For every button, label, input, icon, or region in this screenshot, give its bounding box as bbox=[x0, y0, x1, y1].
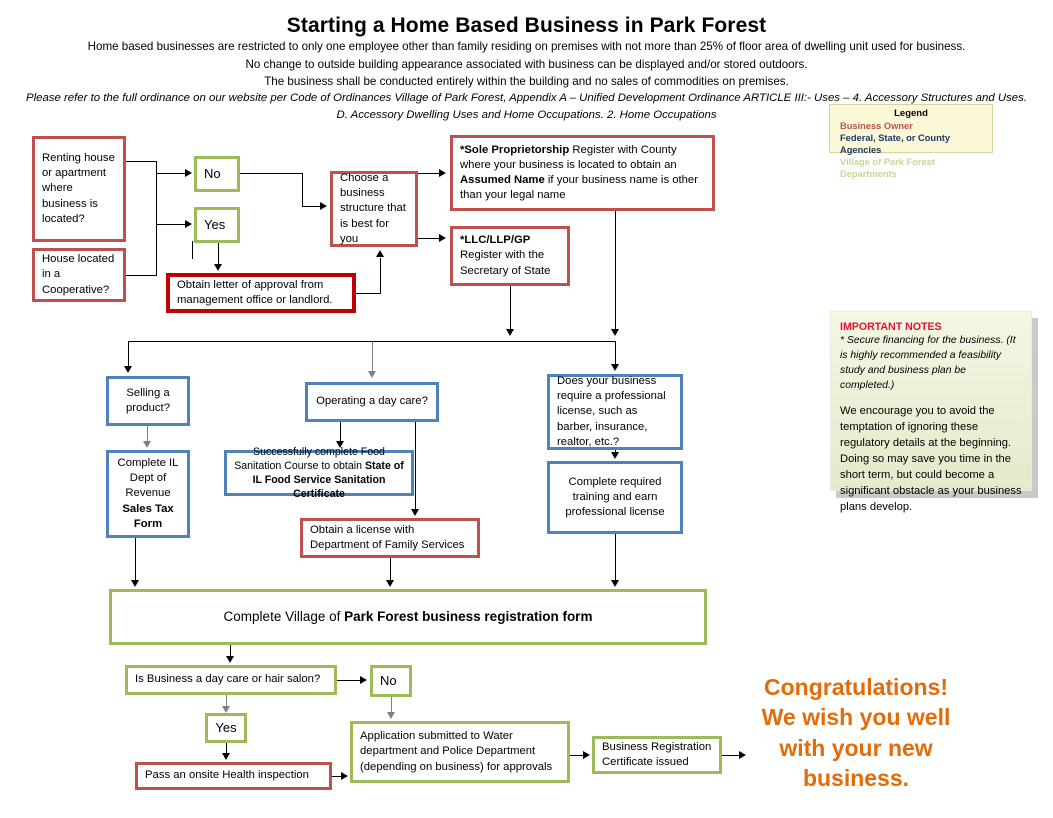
notes-italic-text: * Secure financing for the business. (It… bbox=[840, 334, 1022, 393]
notes-body-text: We encourage you to avoid the temptation… bbox=[840, 404, 1022, 515]
arrow-right bbox=[439, 234, 446, 242]
connector-stub bbox=[192, 241, 193, 259]
arrow-right bbox=[320, 202, 327, 210]
il-dept-text: Complete IL Dept of Revenue bbox=[118, 457, 179, 499]
arrow-down bbox=[222, 753, 230, 760]
node-health-inspection[interactable]: Pass an onsite Health inspection bbox=[135, 762, 332, 790]
registration-bold: Park Forest business registration form bbox=[344, 609, 592, 624]
node-license-family-services[interactable]: Obtain a license with Department of Fami… bbox=[300, 518, 480, 558]
connector bbox=[128, 341, 129, 367]
arrow-up bbox=[376, 250, 384, 257]
node-selling-a-product[interactable]: Selling a product? bbox=[106, 376, 190, 426]
arrow-down bbox=[368, 371, 376, 378]
node-professional-license-question[interactable]: Does your business require a professiona… bbox=[547, 374, 683, 450]
registration-text: Complete Village of bbox=[224, 609, 345, 624]
header-line-2: No change to outside building appearance… bbox=[0, 56, 1053, 73]
arrow-down bbox=[143, 441, 151, 448]
node-yes-salon[interactable]: Yes bbox=[205, 713, 247, 743]
legend-item-federal-agencies: Federal, State, or County Agencies bbox=[834, 132, 988, 156]
connector bbox=[337, 680, 360, 681]
node-no-rental[interactable]: No bbox=[194, 156, 240, 192]
connector bbox=[156, 224, 186, 225]
connector bbox=[418, 173, 439, 174]
connector bbox=[126, 275, 156, 276]
notes-title: IMPORTANT NOTES bbox=[840, 320, 1022, 334]
arrow-down bbox=[611, 580, 619, 587]
arrow-down bbox=[124, 366, 132, 373]
node-complete-training[interactable]: Complete required training and earn prof… bbox=[547, 461, 683, 534]
node-choose-business-structure[interactable]: Choose a business structure that is best… bbox=[330, 171, 418, 247]
flowchart-page: Starting a Home Based Business in Park F… bbox=[0, 0, 1053, 818]
arrow-down bbox=[214, 264, 222, 271]
congratulations-message: Congratulations! We wish you well with y… bbox=[746, 672, 966, 793]
connector bbox=[135, 538, 136, 581]
header-line-3: The business shall be conducted entirely… bbox=[0, 73, 1053, 90]
node-yes-rental[interactable]: Yes bbox=[194, 207, 240, 243]
node-no-salon[interactable]: No bbox=[370, 665, 412, 697]
arrow-down bbox=[226, 656, 234, 663]
connector bbox=[302, 206, 321, 207]
connector bbox=[356, 293, 380, 294]
connector bbox=[156, 173, 186, 174]
node-application-submitted[interactable]: Application submitted to Water departmen… bbox=[350, 721, 570, 783]
sole-prop-bold-2: Assumed Name bbox=[460, 174, 545, 186]
node-sole-proprietorship[interactable]: *Sole Proprietorship Register with Count… bbox=[450, 135, 715, 211]
food-san-text: Successfully complete Food Sanitation Co… bbox=[234, 446, 385, 472]
node-food-sanitation-certificate[interactable]: Successfully complete Food Sanitation Co… bbox=[224, 450, 414, 496]
arrow-right bbox=[583, 751, 590, 759]
arrow-down bbox=[506, 329, 514, 336]
legend-item-business-owner: Business Owner bbox=[834, 120, 988, 132]
legend: Legend Business Owner Federal, State, or… bbox=[829, 104, 993, 153]
connector bbox=[372, 342, 373, 372]
legend-title: Legend bbox=[834, 108, 988, 120]
arrow-right bbox=[185, 169, 192, 177]
arrow-down bbox=[386, 580, 394, 587]
il-dept-bold: Sales Tax Form bbox=[122, 503, 173, 530]
connector bbox=[302, 173, 303, 206]
page-title: Starting a Home Based Business in Park F… bbox=[0, 14, 1053, 38]
connector bbox=[240, 173, 302, 174]
llc-bold-label: *LLC/LLP/GP bbox=[460, 234, 530, 246]
arrow-right bbox=[739, 751, 746, 759]
connector bbox=[615, 534, 616, 581]
connector bbox=[147, 426, 148, 442]
connector bbox=[390, 558, 391, 581]
connector bbox=[380, 258, 381, 294]
connector bbox=[391, 697, 392, 713]
arrow-down bbox=[611, 364, 619, 371]
connector bbox=[615, 341, 616, 365]
connector bbox=[722, 755, 740, 756]
arrow-down bbox=[411, 509, 419, 516]
arrow-right bbox=[185, 220, 192, 228]
legend-item-village-departments: Village of Park Forest Departments bbox=[834, 156, 988, 180]
arrow-right bbox=[439, 169, 446, 177]
connector bbox=[218, 243, 219, 265]
connector bbox=[126, 161, 156, 162]
arrow-down bbox=[336, 441, 344, 448]
arrow-down bbox=[387, 712, 395, 719]
connector bbox=[615, 211, 616, 331]
arrow-right bbox=[341, 772, 348, 780]
connector bbox=[570, 755, 584, 756]
node-renting-question[interactable]: Renting house or apartment where busines… bbox=[32, 136, 126, 242]
arrow-down bbox=[611, 452, 619, 459]
arrow-down bbox=[131, 580, 139, 587]
node-obtain-letter-of-approval[interactable]: Obtain letter of approval from managemen… bbox=[166, 273, 356, 313]
node-business-registration-form[interactable]: Complete Village of Park Forest business… bbox=[109, 589, 707, 645]
sole-prop-bold-1: *Sole Proprietorship bbox=[460, 144, 569, 156]
arrow-down bbox=[611, 329, 619, 336]
header-line-1: Home based businesses are restricted to … bbox=[0, 38, 1053, 55]
connector bbox=[340, 422, 341, 442]
arrow-right bbox=[360, 676, 367, 684]
connector bbox=[415, 422, 416, 510]
connector bbox=[156, 161, 157, 276]
llc-rest-label: Register with the Secretary of State bbox=[460, 249, 550, 276]
node-day-care-or-salon-question[interactable]: Is Business a day care or hair salon? bbox=[125, 665, 337, 695]
node-certificate-issued[interactable]: Business Registration Certificate issued bbox=[592, 736, 722, 774]
node-il-dept-revenue-sales-tax[interactable]: Complete IL Dept of Revenue Sales Tax Fo… bbox=[106, 450, 190, 538]
node-operating-a-day-care[interactable]: Operating a day care? bbox=[305, 382, 439, 422]
connector bbox=[510, 286, 511, 331]
arrow-down bbox=[222, 706, 230, 713]
node-llc-llp-gp[interactable]: *LLC/LLP/GPRegister with the Secretary o… bbox=[450, 226, 570, 286]
important-notes-panel: IMPORTANT NOTES * Secure financing for t… bbox=[830, 311, 1032, 491]
connector bbox=[418, 238, 439, 239]
node-cooperative-question[interactable]: House located in a Cooperative? bbox=[32, 248, 126, 302]
